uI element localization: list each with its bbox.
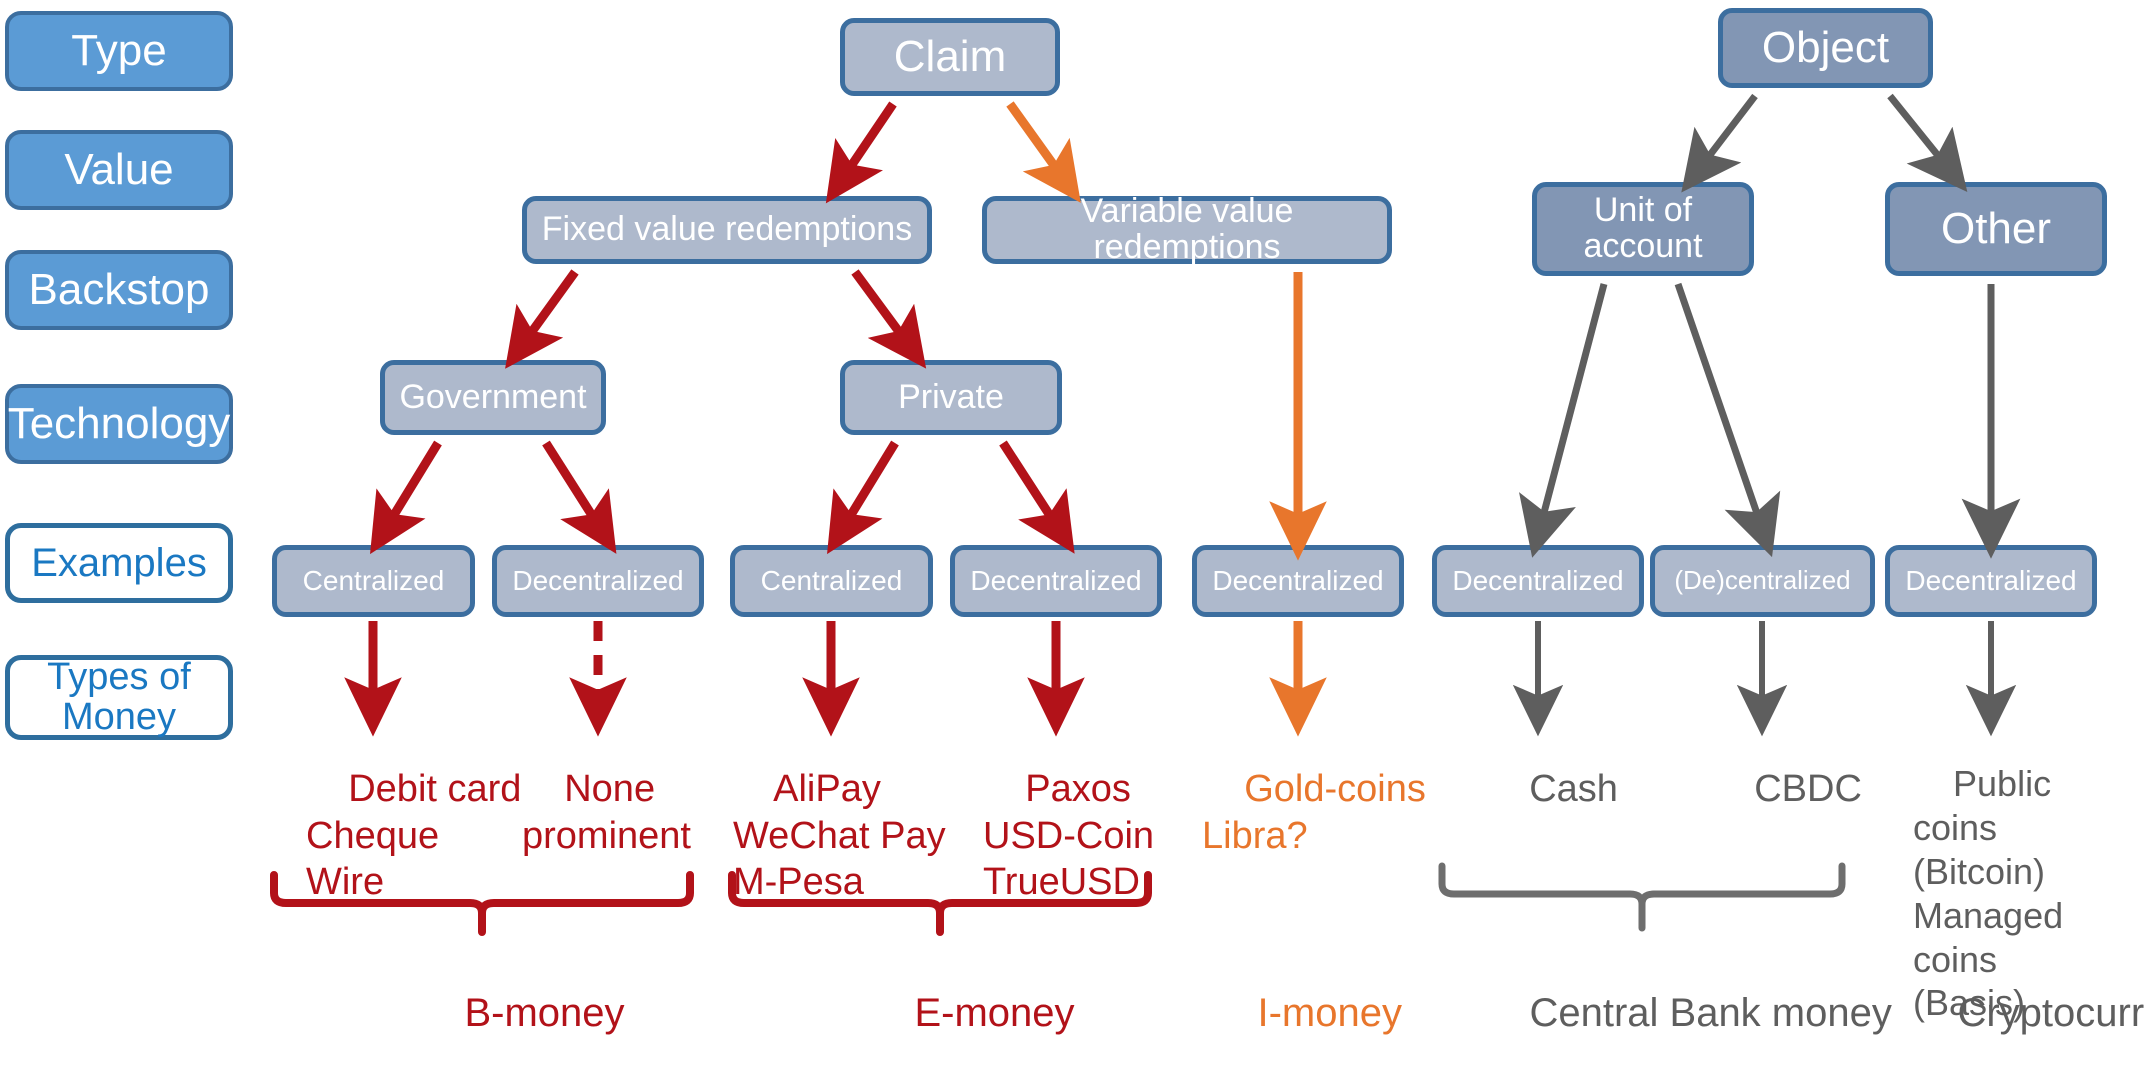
types-of-money-central-bank-money: Central Bank money — [1485, 940, 1892, 1086]
legend-label-backstop: Backstop — [29, 267, 210, 313]
examples-gov-centralized: Debit card Cheque Wire — [306, 720, 521, 952]
node-claim[interactable]: Claim — [840, 18, 1060, 96]
node-object-label: Object — [1762, 25, 1889, 71]
arrow-private-to-centralized — [843, 443, 895, 528]
node-tech-uoa-decentralized-label: Decentralized — [1452, 566, 1623, 595]
examples-gov-decentralized-text: None prominent — [522, 768, 691, 856]
examples-priv-centralized-text: AliPay WeChat Pay M-Pesa — [733, 768, 946, 903]
legend-row-technology: Technology — [5, 384, 233, 464]
node-variable-value-redemptions[interactable]: Variable value redemptions — [982, 196, 1392, 264]
examples-cbdc: CBDC — [1712, 720, 1862, 859]
arrow-fixed-to-private — [855, 272, 908, 344]
legend-label-types-of-money: Types of Money — [47, 658, 191, 738]
arrow-claim-to-fixed — [843, 104, 893, 178]
legend-label-type: Type — [71, 28, 166, 74]
node-tech-variable-decentralized[interactable]: Decentralized — [1192, 545, 1404, 617]
node-tech-other-decentralized[interactable]: Decentralized — [1885, 545, 2097, 617]
arrow-fixed-to-government — [523, 272, 575, 344]
types-of-money-e-money: E-money — [870, 940, 1075, 1086]
examples-gov-decentralized: None prominent — [522, 720, 691, 905]
node-government[interactable]: Government — [380, 360, 606, 435]
node-unit-of-account[interactable]: Unit of account — [1532, 182, 1754, 276]
legend-label-value: Value — [64, 147, 173, 193]
examples-cash: Cash — [1487, 720, 1618, 859]
types-of-money-cryptocurrency: Cryptocurrency — [1913, 940, 2145, 1086]
node-tech-uoa-de-centralized[interactable]: (De)centralized — [1650, 545, 1875, 617]
node-tech-other-decentralized-label: Decentralized — [1905, 566, 2076, 595]
node-object[interactable]: Object — [1718, 8, 1933, 88]
examples-cash-text: Cash — [1529, 768, 1618, 810]
examples-priv-decentralized: Paxos USD-Coin TrueUSD — [983, 720, 1154, 952]
legend-row-types-of-money: Types of Money — [5, 655, 233, 740]
types-of-money-b-money-text: B-money — [464, 991, 624, 1035]
money-tree-diagram: Type Value Backstop Technology Examples … — [0, 0, 2145, 1033]
legend-row-examples: Examples — [5, 523, 233, 603]
examples-priv-centralized: AliPay WeChat Pay M-Pesa — [733, 720, 946, 952]
node-government-label: Government — [399, 380, 586, 416]
arrow-object-to-other — [1890, 96, 1948, 168]
node-fixed-value-redemptions-label: Fixed value redemptions — [542, 212, 912, 248]
examples-variable-decentralized: Gold-coins Libra? — [1202, 720, 1426, 905]
node-other[interactable]: Other — [1885, 182, 2107, 276]
examples-cbdc-text: CBDC — [1754, 768, 1862, 810]
brace-central-bank-money — [1442, 866, 1842, 928]
node-unit-of-account-label: Unit of account — [1583, 193, 1702, 264]
node-variable-value-redemptions-label: Variable value redemptions — [987, 194, 1387, 265]
arrow-uoa-to-de-centralized — [1678, 284, 1762, 528]
examples-gov-centralized-text: Debit card Cheque Wire — [306, 768, 521, 903]
arrow-uoa-to-decentralized — [1540, 284, 1604, 528]
node-fixed-value-redemptions[interactable]: Fixed value redemptions — [522, 196, 932, 264]
arrow-government-to-centralized — [386, 443, 438, 528]
legend-row-type: Type — [5, 11, 233, 91]
node-tech-gov-centralized-label: Centralized — [303, 566, 445, 595]
node-tech-uoa-decentralized[interactable]: Decentralized — [1432, 545, 1644, 617]
examples-variable-decentralized-text: Gold-coins Libra? — [1202, 768, 1426, 856]
node-private[interactable]: Private — [840, 360, 1062, 435]
node-tech-uoa-de-centralized-label: (De)centralized — [1674, 567, 1850, 594]
legend-label-technology: Technology — [8, 401, 231, 447]
legend-row-value: Value — [5, 130, 233, 210]
types-of-money-b-money: B-money — [420, 940, 625, 1086]
node-tech-priv-decentralized-label: Decentralized — [970, 566, 1141, 595]
node-tech-gov-decentralized[interactable]: Decentralized — [492, 545, 704, 617]
node-other-label: Other — [1941, 206, 2051, 252]
legend-row-backstop: Backstop — [5, 250, 233, 330]
types-of-money-i-money-text: I-money — [1257, 991, 1402, 1035]
node-claim-label: Claim — [894, 34, 1006, 80]
arrow-object-to-unit-of-account — [1700, 96, 1755, 168]
node-tech-priv-centralized[interactable]: Centralized — [730, 545, 933, 617]
types-of-money-central-bank-money-text: Central Bank money — [1529, 991, 1891, 1035]
node-tech-variable-decentralized-label: Decentralized — [1212, 566, 1383, 595]
arrow-private-to-decentralized — [1003, 443, 1058, 528]
node-private-label: Private — [898, 380, 1004, 416]
node-tech-gov-centralized[interactable]: Centralized — [272, 545, 475, 617]
node-tech-gov-decentralized-label: Decentralized — [512, 566, 683, 595]
arrow-government-to-decentralized — [546, 443, 600, 528]
examples-priv-decentralized-text: Paxos USD-Coin TrueUSD — [983, 768, 1154, 903]
types-of-money-cryptocurrency-text: Cryptocurrency — [1957, 991, 2145, 1035]
node-tech-priv-decentralized[interactable]: Decentralized — [950, 545, 1162, 617]
types-of-money-i-money: I-money — [1213, 940, 1402, 1086]
types-of-money-e-money-text: E-money — [914, 991, 1074, 1035]
legend-label-examples: Examples — [31, 542, 207, 584]
node-tech-priv-centralized-label: Centralized — [761, 566, 903, 595]
arrow-claim-to-variable — [1010, 104, 1063, 178]
